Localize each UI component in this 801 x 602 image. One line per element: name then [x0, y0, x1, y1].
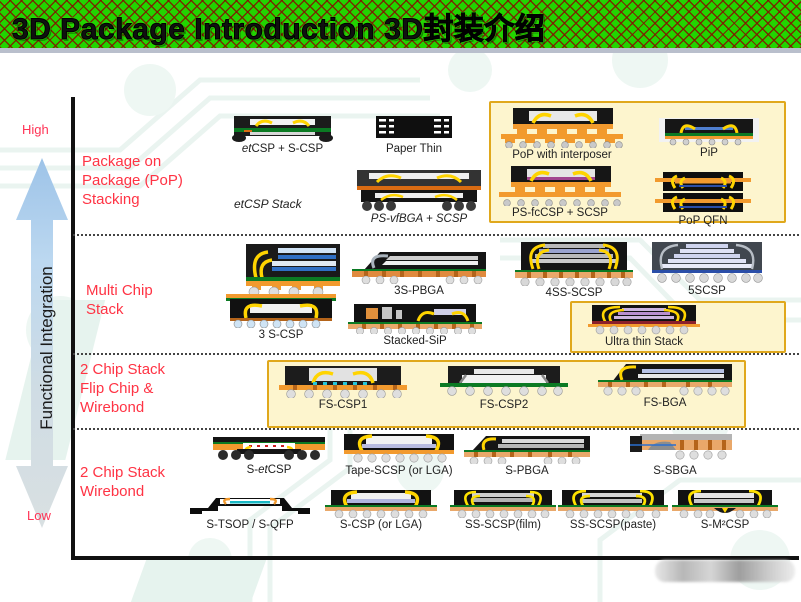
pkg-ss-scsp-paste-icon — [558, 490, 668, 518]
row-label-pop: Package on Package (PoP) Stacking — [82, 152, 183, 209]
pkg-s-m2csp-icon — [672, 490, 778, 518]
package-pop-interposer[interactable]: PoP with interposer — [497, 108, 627, 162]
package-pip[interactable]: PiP — [659, 118, 759, 160]
pkg-s-csp-icon — [325, 490, 437, 518]
pkg-4ss-scsp-icon — [515, 242, 633, 286]
package-label: S-PBGA — [464, 465, 590, 478]
pkg-s-tsop-icon — [186, 494, 314, 518]
pkg-pip-icon — [659, 118, 759, 146]
package-label: 4SS-SCSP — [515, 287, 633, 300]
package-label: etCSP + S-CSP — [230, 143, 335, 156]
package-ss-scsp-film[interactable]: SS-SCSP(film) — [450, 490, 556, 532]
package-label: S-CSP (or LGA) — [325, 519, 437, 532]
package-s-tsop-qfp[interactable]: S-TSOP / S-QFP — [186, 494, 314, 532]
package-label: 3 S-CSP — [222, 329, 340, 342]
pkg-fs-csp1-icon — [279, 366, 407, 398]
package-stacked-sip[interactable]: Stacked-SiP — [348, 304, 482, 348]
title-banner-shadow — [0, 48, 801, 53]
package-ps-fccsp-scsp[interactable]: PS-fcCSP + SCSP — [495, 166, 625, 220]
package-label: 3S-PBGA — [352, 285, 486, 298]
axis-cap-high: High — [22, 122, 49, 137]
pkg-ss-scsp-film-icon — [450, 490, 556, 518]
package-s-m2csp[interactable]: S-M²CSP — [672, 490, 778, 532]
package-fs-bga[interactable]: FS-BGA — [598, 364, 732, 410]
package-ps-vfbga-scsp[interactable]: PS-vfBGA + SCSP — [353, 168, 485, 226]
package-label: PoP QFN — [655, 215, 751, 228]
package-ultra-thin[interactable]: Ultra thin Stack — [588, 305, 700, 349]
package-label: FS-BGA — [598, 397, 732, 410]
package-fs-csp2[interactable]: FS-CSP2 — [440, 366, 568, 412]
package-s-csp-lga[interactable]: S-CSP (or LGA) — [325, 490, 437, 532]
package-label: FS-CSP1 — [279, 399, 407, 412]
package-s-pbga[interactable]: S-PBGA — [464, 436, 590, 478]
package-label: S-M²CSP — [672, 519, 778, 532]
axis-vertical-line — [71, 97, 75, 560]
package-paper-thin[interactable]: Paper Thin — [372, 114, 456, 156]
package-s-sbga[interactable]: S-SBGA — [618, 434, 732, 478]
package-label: PS-vfBGA + SCSP — [353, 213, 485, 226]
package-5scsp[interactable]: 5SCSP — [648, 242, 766, 298]
package-ss-scsp-paste[interactable]: SS-SCSP(paste) — [558, 490, 668, 532]
pkg-s-etcsp-icon — [209, 437, 329, 463]
pkg-5scsp-icon — [648, 242, 766, 284]
pkg-s-pbga-icon — [464, 436, 590, 464]
row-divider-2 — [73, 353, 799, 355]
package-label: S-etCSP — [209, 464, 329, 477]
package-label: 5SCSP — [648, 285, 766, 298]
pkg-dark-dual-wirebond-icon — [230, 114, 335, 142]
package-tape-scsp[interactable]: Tape-SCSP (or LGA) — [336, 434, 462, 478]
package-label: SS-SCSP(film) — [450, 519, 556, 532]
package-etcsp-stack[interactable]: etCSP Stack — [234, 197, 302, 211]
package-fs-csp1[interactable]: FS-CSP1 — [279, 366, 407, 412]
pkg-3spbga-icon — [352, 252, 486, 284]
package-pop-qfn[interactable]: PoP QFN — [655, 172, 751, 228]
row-label-multichip: Multi Chip Stack — [86, 281, 153, 319]
row-divider-3 — [73, 428, 799, 430]
package-label: PiP — [659, 147, 759, 160]
row-divider-1 — [73, 234, 799, 236]
pkg-ps-fccsp-scsp-icon — [495, 166, 625, 206]
axis-title-functional-integration: Functional Integration — [37, 183, 57, 513]
pkg-fs-csp2-icon — [440, 366, 568, 398]
package-label: Stacked-SiP — [348, 335, 482, 348]
package-3s-pbga[interactable]: 3S-PBGA — [352, 252, 486, 298]
package-label: Paper Thin — [372, 143, 456, 156]
pkg-tape-scsp-icon — [336, 434, 462, 464]
package-etcsp-scsp[interactable]: etCSP + S-CSP — [230, 114, 335, 156]
package-4ss-scsp[interactable]: 4SS-SCSP — [515, 242, 633, 300]
pkg-pop-qfn-icon — [655, 172, 751, 214]
pkg-3scsp-icon — [222, 244, 340, 328]
package-label: Ultra thin Stack — [588, 336, 700, 349]
page-title: 3D Package Introduction 3D封装介绍 — [12, 4, 545, 48]
row-label-twochip-fc: 2 Chip Stack Flip Chip & Wirebond — [80, 360, 165, 417]
package-s-etcsp[interactable]: S-etCSP — [209, 437, 329, 477]
package-label: etCSP Stack — [234, 198, 302, 211]
redacted-watermark — [655, 560, 795, 582]
package-label: FS-CSP2 — [440, 399, 568, 412]
pkg-paper-thin-icon — [372, 114, 456, 142]
package-label: SS-SCSP(paste) — [558, 519, 668, 532]
pkg-two-tier-bga-icon — [353, 168, 485, 212]
row-label-twochip-wb: 2 Chip Stack Wirebond — [80, 463, 165, 501]
pkg-s-sbga-icon — [618, 434, 732, 464]
pkg-ultra-thin-icon — [588, 305, 700, 335]
package-label: PS-fcCSP + SCSP — [495, 207, 625, 220]
package-label: S-TSOP / S-QFP — [186, 519, 314, 532]
package-label: Tape-SCSP (or LGA) — [336, 465, 462, 478]
package-label: S-SBGA — [618, 465, 732, 478]
pkg-pop-interposer-icon — [497, 108, 627, 148]
package-label: PoP with interposer — [497, 149, 627, 162]
pkg-stacked-sip-icon — [348, 304, 482, 334]
pkg-fs-bga-icon — [598, 364, 732, 396]
package-3-s-csp[interactable]: 3 S-CSP — [222, 244, 340, 342]
